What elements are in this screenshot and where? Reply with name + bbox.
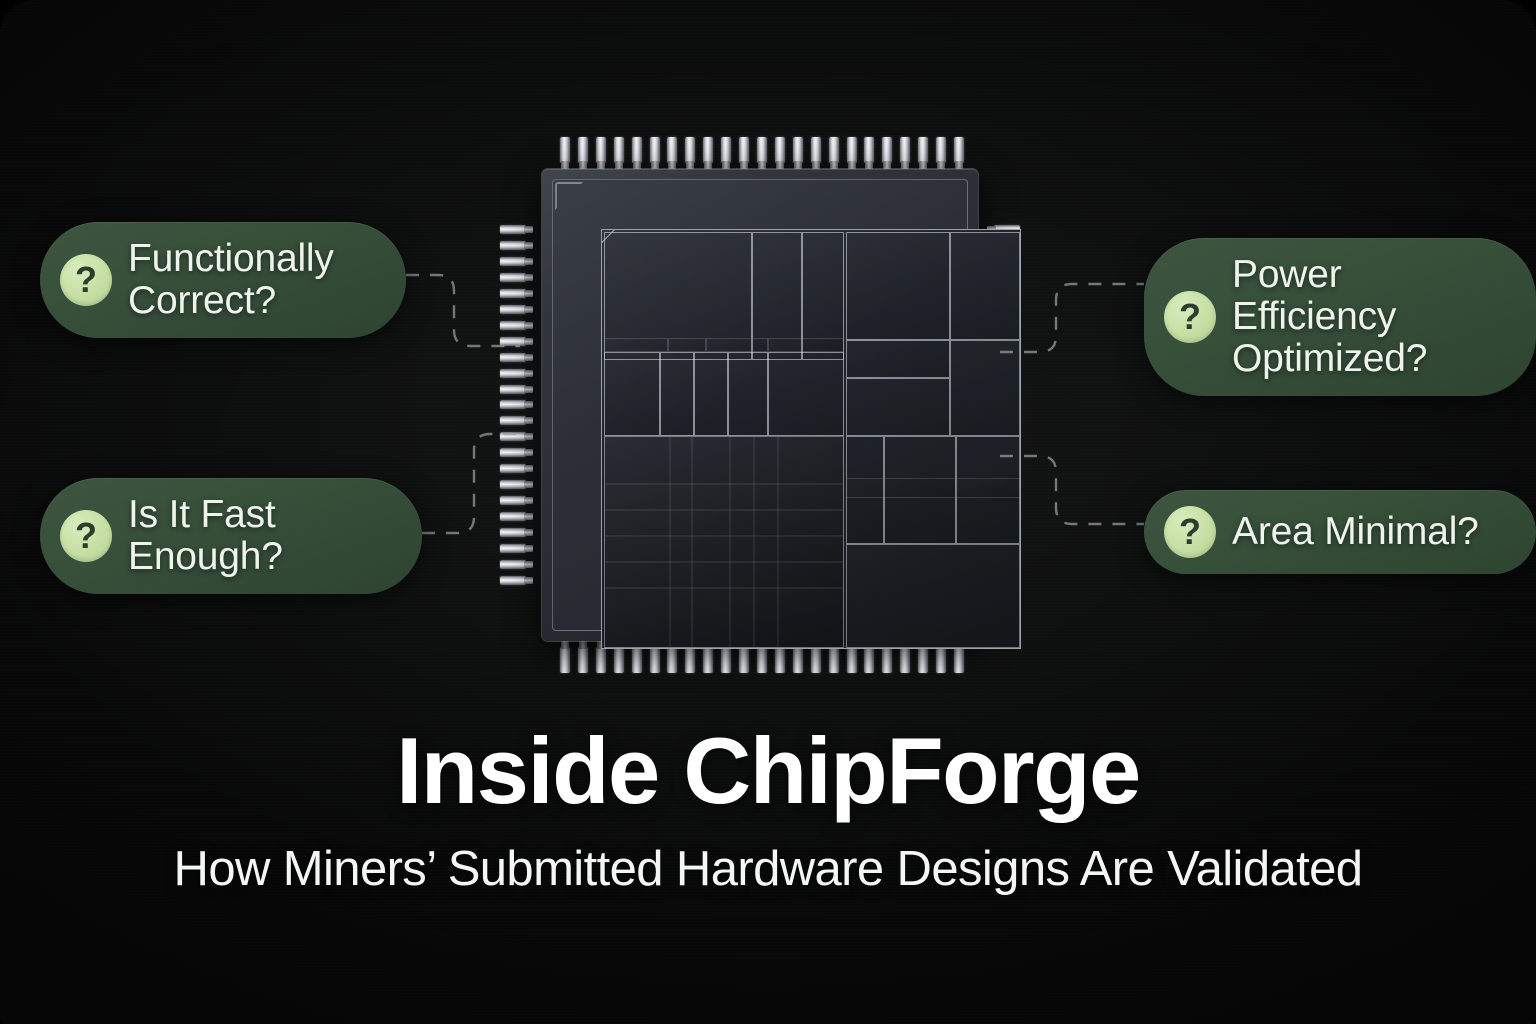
chip-pin [500,337,526,346]
chip-pin [500,432,526,441]
slide-canvas: ? Functionally Correct? ? Is It Fast Eno… [0,0,1536,1024]
chip-floorplan-die [601,229,1021,649]
chip-pin [500,480,526,489]
chip-pin [775,647,785,673]
chip-pin [500,528,526,537]
chip-pin [882,137,892,163]
chip-pin [500,353,526,362]
chip-pin [500,241,526,250]
chip-pin [560,137,570,163]
chip-pin [757,137,767,163]
chip-pin [721,647,731,673]
question-mark-icon: ? [1164,506,1216,558]
chip-pin [685,137,695,163]
chip-pin [578,647,588,673]
chip-pin [667,137,677,163]
badge-label-functionally-correct: Functionally Correct? [128,238,334,322]
chip-pin [500,544,526,553]
chip-pin [936,137,946,163]
chip-pin [500,416,526,425]
chip-pin [500,321,526,330]
chip-package-body [542,169,978,641]
badge-label-power-efficiency-optimized: Power Efficiency Optimized? [1232,254,1510,380]
chip-pin [954,137,964,163]
chip-pin [757,647,767,673]
chip-pin [500,225,526,234]
chip-pin [811,137,821,163]
chip-pin [614,647,624,673]
chip-pin [614,137,624,163]
chip-pin [811,647,821,673]
chip-pin [864,137,874,163]
badge-is-it-fast-enough[interactable]: ? Is It Fast Enough? [40,478,422,594]
chip-pin [900,647,910,673]
chip-pin [560,647,570,673]
chip-pin [650,137,660,163]
badge-functionally-correct[interactable]: ? Functionally Correct? [40,222,406,338]
chip-pin [578,137,588,163]
chip-pin [632,647,642,673]
chip-pin [918,137,928,163]
chip-pin [793,137,803,163]
chip-pin [500,369,526,378]
chip-pin [500,289,526,298]
question-mark-icon: ? [60,510,112,562]
badge-area-minimal[interactable]: ? Area Minimal? [1144,490,1536,574]
chip-pin [829,137,839,163]
badge-power-efficiency-optimized[interactable]: ? Power Efficiency Optimized? [1144,238,1536,396]
chip-pin [632,137,642,163]
chip-pin [500,273,526,282]
chip-pin [739,137,749,163]
chip-pin [500,512,526,521]
chip-pin [500,385,526,394]
chip-pin [500,305,526,314]
chip-pin [721,137,731,163]
chip-pin [954,647,964,673]
chip-pin [739,647,749,673]
page-subtitle: How Miners’ Submitted Hardware Designs A… [0,845,1536,894]
chip-pin [500,576,526,585]
chip-pin [775,137,785,163]
chip-pin [936,647,946,673]
badge-label-area-minimal: Area Minimal? [1232,511,1479,553]
chip-pin [703,137,713,163]
question-mark-icon: ? [60,254,112,306]
chip-pin [882,647,892,673]
chip-pins-top [560,137,964,163]
chip-pin [500,448,526,457]
chip-pin [685,647,695,673]
chip-pin [829,647,839,673]
chip-pin [500,560,526,569]
question-mark-icon: ? [1164,291,1216,343]
integrated-circuit-die-graphic [498,135,1022,675]
chip-pins-left [500,225,526,585]
badge-label-is-it-fast-enough: Is It Fast Enough? [128,494,283,578]
chip-pin [500,464,526,473]
chip-pin [596,647,606,673]
chip-pin [793,647,803,673]
page-title: Inside ChipForge [0,724,1536,818]
chip-pin [900,137,910,163]
chip-pin [864,647,874,673]
chip-pin [500,257,526,266]
chip-pin [596,137,606,163]
chip-pin [847,137,857,163]
chip-pin [500,400,526,409]
chip-pin [500,496,526,505]
chip-pin [667,647,677,673]
chip-pins-bottom [560,647,964,673]
chip-pin [650,647,660,673]
chip-pin [703,647,713,673]
chip-pin [918,647,928,673]
chip-pin [847,647,857,673]
